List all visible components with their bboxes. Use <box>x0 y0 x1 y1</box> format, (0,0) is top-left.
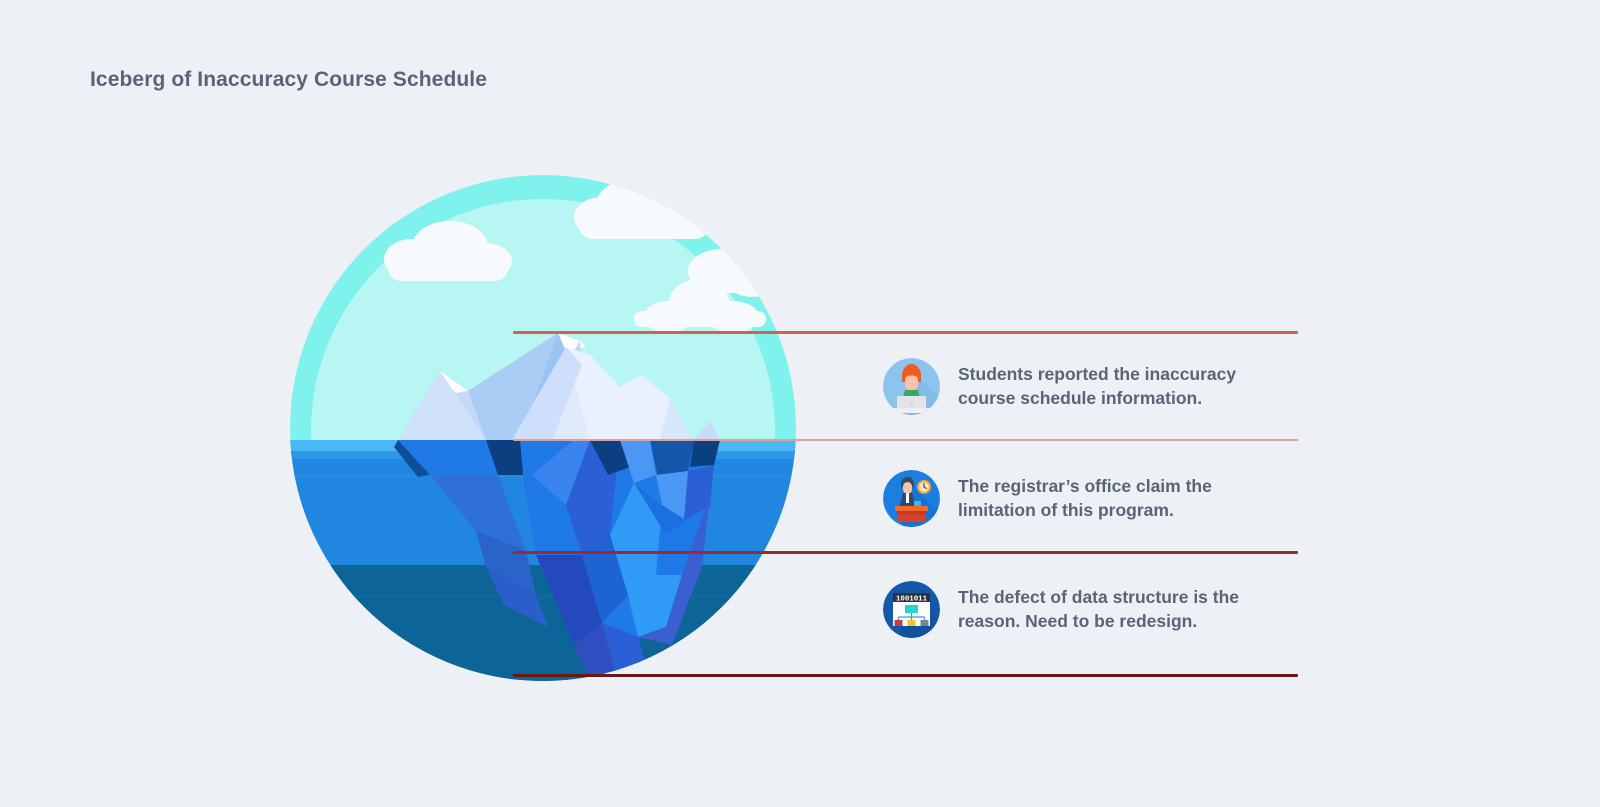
connector-line-4 <box>513 674 1298 677</box>
insight-item-3-text: The defect of data structure is the reas… <box>958 586 1239 634</box>
insight-item-3: 1001011 The defect of data structure is … <box>883 581 1239 638</box>
registrar-office-clerk-icon <box>883 470 940 527</box>
insight-item-1: Students reported the inaccuracy course … <box>883 358 1236 415</box>
connector-line-2 <box>513 439 1298 441</box>
insight-item-2-text: The registrar’s office claim the limitat… <box>958 475 1212 523</box>
binary-label: 1001011 <box>896 595 928 603</box>
connector-line-1 <box>513 331 1298 334</box>
connector-line-3 <box>513 551 1298 554</box>
insight-item-2: The registrar’s office claim the limitat… <box>883 470 1212 527</box>
data-structure-icon: 1001011 <box>883 581 940 638</box>
page-title: Iceberg of Inaccuracy Course Schedule <box>90 68 487 92</box>
iceberg-illustration <box>290 175 796 681</box>
student-with-laptop-icon <box>883 358 940 415</box>
insight-item-1-text: Students reported the inaccuracy course … <box>958 363 1236 411</box>
